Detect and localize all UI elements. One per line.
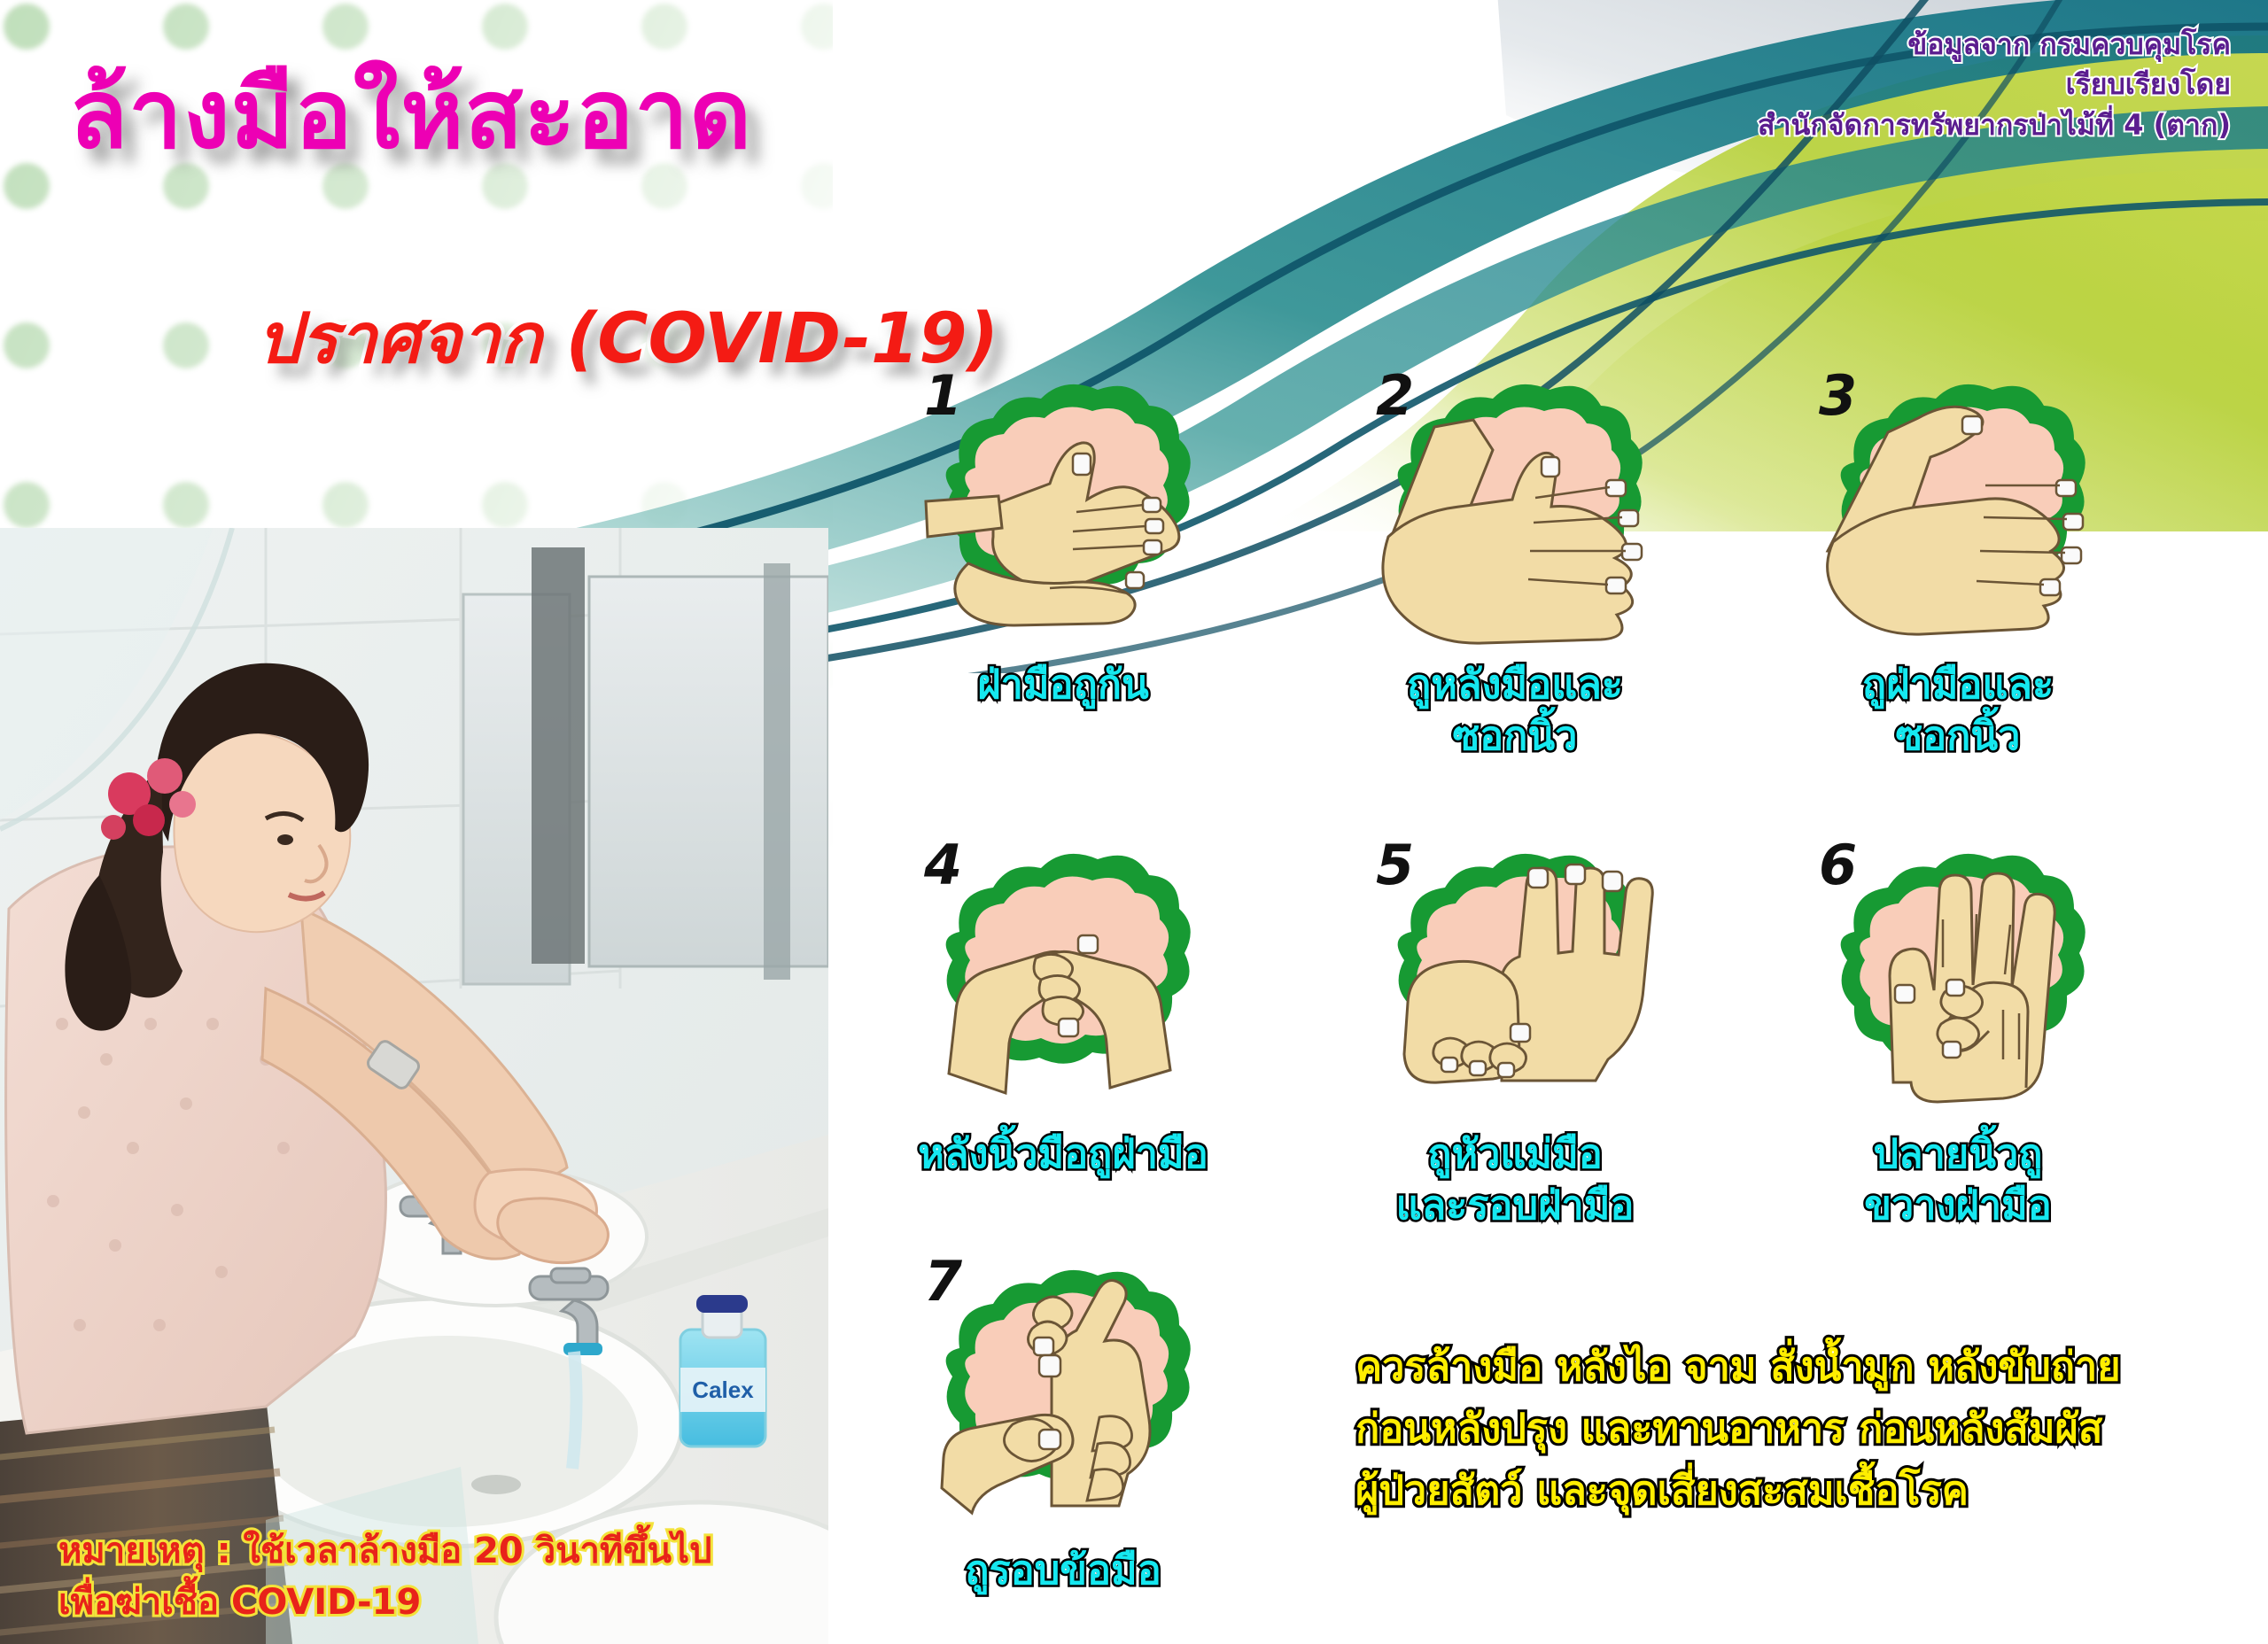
- step-4-number: 4: [924, 838, 962, 893]
- credit-line-compiled-by: เรียบเรียงโดย: [1758, 65, 2231, 105]
- step-6-caption: ปลายนิ้วถู ขวางฝ่ามือ: [1745, 1128, 2171, 1230]
- step-4-caption-line-1: หลังนิ้วมือถูฝ่ามือ: [850, 1128, 1276, 1180]
- advisory-block: ควรล้างมือ หลังไอ จาม สั่งน้ำมูก หลังขับ…: [1355, 1336, 2250, 1521]
- step-1-number: 1: [924, 368, 962, 423]
- step-1-caption-line-1: ฝ่ามือถูกัน: [850, 659, 1276, 710]
- step-6-number: 6: [1819, 838, 1857, 893]
- step-2-caption-line-2: ซอกนิ้ว: [1302, 710, 1728, 762]
- step-6-caption-line-2: ขวางฝ่ามือ: [1745, 1180, 2171, 1231]
- step-7-caption-line-1: ถูรอบข้อมือ: [850, 1545, 1276, 1596]
- step-3: 3: [1745, 381, 2171, 761]
- step-4: 4: [850, 850, 1276, 1180]
- step-2: 2: [1302, 381, 1728, 761]
- step-5: 5: [1302, 850, 1728, 1230]
- step-6-caption-line-1: ปลายนิ้วถู: [1745, 1128, 2171, 1180]
- credit-line-office: สำนักจัดการทรัพยากรป่าไม้ที่ 4 (ตาก): [1758, 105, 2231, 145]
- handwashing-photo: Calex: [0, 528, 828, 1644]
- step-2-caption-line-1: ถูหลังมือและ: [1302, 659, 1728, 710]
- advisory-line-3: ผู้ป่วยสัตว์ และจุดเสี่ยงสะสมเชื้อโรค: [1355, 1460, 2250, 1522]
- page-subtitle: ปราศจาก (COVID-19): [257, 283, 998, 393]
- photo-note-line-1: หมายเหตุ : ใช้เวลาล้างมือ 20 วินาทีขึ้นไ…: [58, 1525, 712, 1577]
- step-2-caption: ถูหลังมือและ ซอกนิ้ว: [1302, 659, 1728, 761]
- poster-root: ล้างมือให้สะอาด ปราศจาก (COVID-19) ข้อมู…: [0, 0, 2268, 1644]
- step-5-number: 5: [1376, 838, 1414, 893]
- advisory-line-1: ควรล้างมือ หลังไอ จาม สั่งน้ำมูก หลังขับ…: [1355, 1336, 2250, 1398]
- step-3-caption-line-1: ถูฝ่ามือและ: [1745, 659, 2171, 710]
- step-4-caption: หลังนิ้วมือถูฝ่ามือ: [850, 1128, 1276, 1180]
- step-3-caption-line-2: ซอกนิ้ว: [1745, 710, 2171, 762]
- step-3-illustration: 3: [1812, 381, 2104, 647]
- step-7-illustration: 7: [917, 1267, 1209, 1532]
- step-6-illustration: 6: [1812, 850, 2104, 1116]
- step-7-caption: ถูรอบข้อมือ: [850, 1545, 1276, 1596]
- step-1-caption: ฝ่ามือถูกัน: [850, 659, 1276, 710]
- credit-block: ข้อมูลจาก กรมควบคุมโรค เรียบเรียงโดย สำน…: [1758, 25, 2231, 145]
- steps-grid: 1: [850, 381, 2268, 1391]
- advisory-line-2: ก่อนหลังปรุง และทานอาหาร ก่อนหลังสัมผัส: [1355, 1398, 2250, 1460]
- credit-line-source: ข้อมูลจาก กรมควบคุมโรค: [1758, 25, 2231, 65]
- step-5-caption-line-1: ถูหัวแม่มือ: [1302, 1128, 1728, 1180]
- soap-bottle-label: Calex: [692, 1376, 754, 1403]
- step-2-illustration: 2: [1369, 381, 1661, 647]
- step-5-illustration: 5: [1369, 850, 1661, 1116]
- step-4-illustration: 4: [917, 850, 1209, 1116]
- photo-note: หมายเหตุ : ใช้เวลาล้างมือ 20 วินาทีขึ้นไ…: [58, 1525, 712, 1628]
- step-2-number: 2: [1376, 368, 1414, 423]
- step-7-number: 7: [924, 1254, 962, 1309]
- step-5-caption-line-2: และรอบฝ่ามือ: [1302, 1180, 1728, 1231]
- step-1-illustration: 1: [917, 381, 1209, 647]
- step-3-number: 3: [1819, 368, 1857, 423]
- page-title: ล้างมือให้สะอาด: [69, 62, 752, 169]
- step-7: 7: [850, 1267, 1276, 1596]
- step-1: 1: [850, 381, 1276, 710]
- step-6: 6: [1745, 850, 2171, 1230]
- photo-note-line-2: เพื่อฆ่าเชื้อ COVID-19: [58, 1577, 712, 1628]
- step-5-caption: ถูหัวแม่มือ และรอบฝ่ามือ: [1302, 1128, 1728, 1230]
- step-3-caption: ถูฝ่ามือและ ซอกนิ้ว: [1745, 659, 2171, 761]
